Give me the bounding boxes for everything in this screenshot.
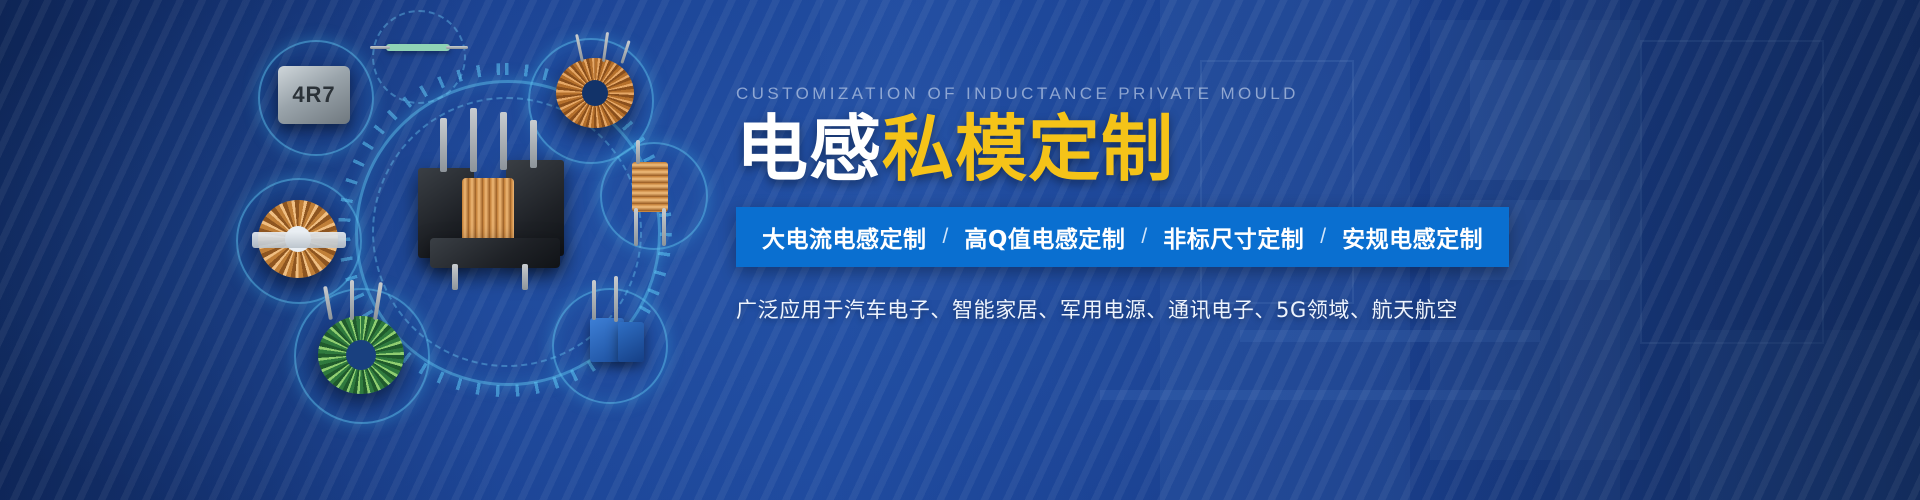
bobbin-flange [252,232,346,248]
feature-separator-2: / [1320,225,1326,249]
feature-separator-1: / [1141,225,1147,249]
feature-item-2: 非标尺寸定制 [1163,220,1304,254]
feature-item-3: 安规电感定制 [1342,220,1483,254]
product-toroidal-inductor-copper [556,58,634,128]
feature-item-0: 大电流电感定制 [762,220,927,254]
headline-part-white: 电感 [736,107,882,191]
banner-eyebrow: CUSTOMIZATION OF INDUCTANCE PRIVATE MOUL… [736,84,1876,104]
feature-bar: 大电流电感定制 / 高Q值电感定制 / 非标尺寸定制 / 安规电感定制 [736,207,1509,267]
product-choke-base [430,238,560,268]
product-smd-inductor-4r7: 4R7 [278,66,350,124]
product-axial-component [386,44,450,51]
product-solenoid-coil [632,162,668,212]
chip-label: 4R7 [292,82,335,108]
decorative-ring-smd [372,10,466,104]
banner-headline: 电感私模定制 [736,113,1876,185]
feature-item-1: 高Q值电感定制 [964,220,1125,254]
banner-text-block: CUSTOMIZATION OF INDUCTANCE PRIVATE MOUL… [736,84,1876,324]
product-blue-inductor-back [618,322,644,362]
product-toroidal-inductor-green [318,316,404,394]
headline-part-yellow: 私模定制 [882,107,1174,191]
banner-description: 广泛应用于汽车电子、智能家居、军用电源、通讯电子、5G领域、航天航空 [736,294,1876,324]
product-cluster: 4R7 [0,0,730,500]
feature-separator-0: / [943,225,949,249]
promo-banner: 4R7 [0,0,1920,500]
